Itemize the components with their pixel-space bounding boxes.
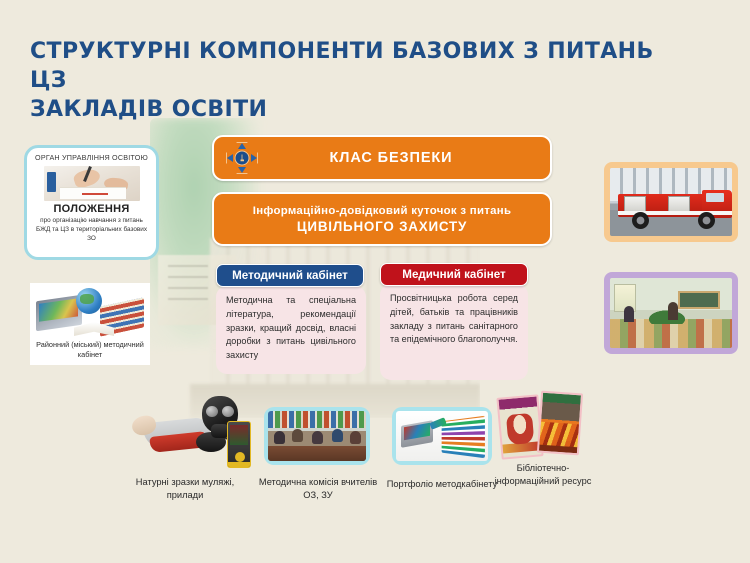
rayon-metod-kabinet-caption: Районний (міський) методичний кабінет bbox=[30, 340, 150, 361]
caption-metod-commission: Методична комісія вчителів ОЗ, ЗУ bbox=[258, 476, 378, 502]
emergency-service-emblem-icon bbox=[226, 142, 258, 174]
rayon-metod-kabinet-card[interactable]: Районний (міський) методичний кабінет bbox=[30, 283, 150, 365]
measuring-device-photo bbox=[227, 421, 251, 468]
banner-class-label: КЛАС БЕЗПЕКИ bbox=[258, 150, 550, 166]
banner-info-corner[interactable]: Інформаційно-довідковий куточок з питань… bbox=[212, 192, 552, 246]
education-collage-image bbox=[34, 286, 146, 338]
teachers-meeting-photo bbox=[268, 411, 366, 461]
panel-metod-text: Методична та спеціальна література, реко… bbox=[226, 295, 356, 360]
classroom-image-frame[interactable] bbox=[604, 272, 738, 354]
tag-medychnyi-kabinet[interactable]: Медичний кабінет bbox=[380, 263, 528, 286]
banner-class-bezpeky[interactable]: КЛАС БЕЗПЕКИ bbox=[212, 135, 552, 181]
caption-library-resource: Бібліотечно-інформаційний ресурс bbox=[490, 462, 596, 488]
tag-metod-label: Методичний кабінет bbox=[232, 269, 348, 282]
tag-med-label: Медичний кабінет bbox=[402, 268, 505, 281]
signing-documents-photo bbox=[44, 166, 140, 201]
panel-med-text: Просвітницька робота серед дітей, батькі… bbox=[390, 293, 518, 344]
magazine-cover-2 bbox=[537, 391, 583, 456]
org-management-card[interactable]: ОРГАН УПРАВЛІННЯ ОСВІТОЮ ПОЛОЖЕННЯ про о… bbox=[24, 145, 159, 260]
fire-truck-photo bbox=[610, 168, 732, 236]
portfolio-image-frame[interactable] bbox=[392, 407, 492, 465]
slide-canvas: СТРУКТУРНІ КОМПОНЕНТИ БАЗОВИХ З ПИТАНЬ Ц… bbox=[0, 0, 750, 563]
page-title: СТРУКТУРНІ КОМПОНЕНТИ БАЗОВИХ З ПИТАНЬ Ц… bbox=[30, 37, 690, 124]
banner-info-line1: Інформаційно-довідковий куточок з питань bbox=[253, 205, 512, 217]
laptop-books-photo bbox=[396, 411, 488, 461]
org-card-title: ПОЛОЖЕННЯ bbox=[31, 203, 152, 215]
caption-portfolio: Портфоліо методкабінету bbox=[386, 478, 498, 491]
panel-medychnyi-kabinet: Просвітницька робота серед дітей, батькі… bbox=[380, 284, 528, 380]
page-title-line1: СТРУКТУРНІ КОМПОНЕНТИ БАЗОВИХ З ПИТАНЬ Ц… bbox=[30, 39, 654, 93]
banner-info-line2: ЦИВІЛЬНОГО ЗАХИСТУ bbox=[253, 219, 512, 234]
fire-truck-image-frame[interactable] bbox=[604, 162, 738, 242]
caption-natural-samples: Натурні зразки муляжі, прилади bbox=[120, 476, 250, 502]
classroom-photo bbox=[610, 278, 732, 348]
panel-metodychnyi-kabinet: Методична та спеціальна література, реко… bbox=[216, 286, 366, 374]
tag-metodychnyi-kabinet[interactable]: Методичний кабінет bbox=[216, 264, 364, 287]
magazine-covers-photo[interactable] bbox=[499, 392, 585, 458]
page-title-line2: ЗАКЛАДІВ ОСВІТИ bbox=[30, 95, 690, 124]
org-card-subtitle: про організацію навчання з питань БЖД та… bbox=[31, 217, 152, 244]
org-card-header: ОРГАН УПРАВЛІННЯ ОСВІТОЮ bbox=[31, 153, 152, 163]
metod-commission-image-frame[interactable] bbox=[264, 407, 370, 465]
